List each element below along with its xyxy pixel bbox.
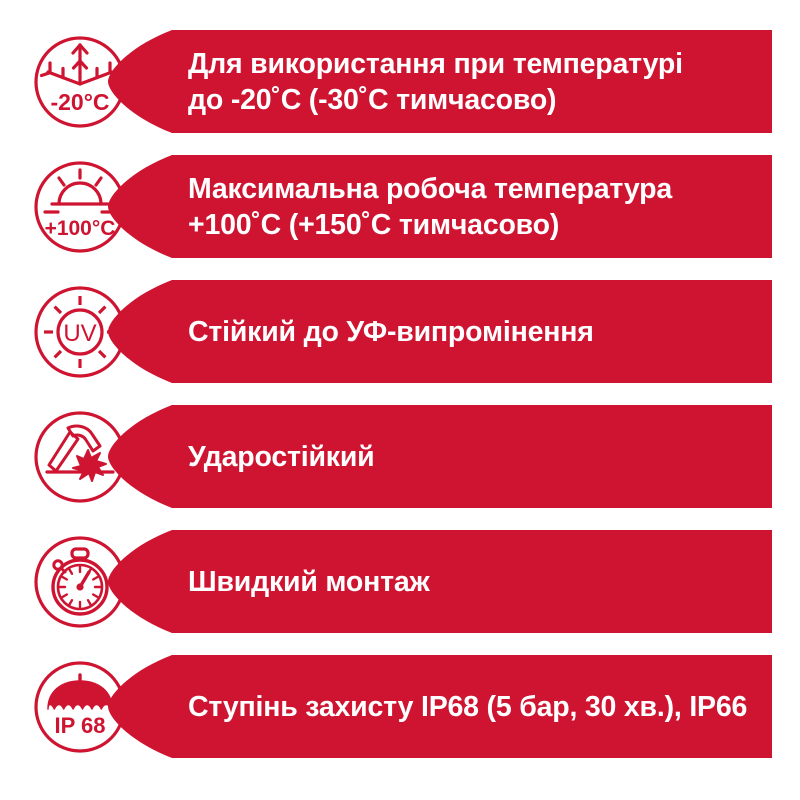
- sun-dome-icon: +100°C: [32, 159, 128, 255]
- snowflake-icon-label: -20°C: [50, 89, 109, 115]
- feature-banner: Для використання при температурі до -20˚…: [108, 30, 772, 133]
- feature-banner: Швидкий монтаж: [108, 530, 772, 633]
- feature-row: Стійкий до УФ-випромінення UV: [0, 280, 800, 383]
- feature-banner: Стійкий до УФ-випромінення: [108, 280, 772, 383]
- feature-text: Ударостійкий: [188, 405, 748, 508]
- sun-dome-icon-label: +100°C: [45, 217, 116, 240]
- snowflake-icon: -20°C: [32, 34, 128, 130]
- feature-banner: Ступінь захисту IP68 (5 бар, 30 хв.), IP…: [108, 655, 772, 758]
- feature-text: Для використання при температурі до -20˚…: [188, 30, 748, 133]
- feature-row: Ступінь захисту IP68 (5 бар, 30 хв.), IP…: [0, 655, 800, 758]
- uv-sun-icon-label: UV: [63, 320, 96, 347]
- feature-banner: Ударостійкий: [108, 405, 772, 508]
- uv-sun-icon: UV: [32, 284, 128, 380]
- feature-row: Максимальна робоча температура +100˚C (+…: [0, 155, 800, 258]
- hammer-impact-icon: [32, 409, 128, 505]
- umbrella-icon-label: IP 68: [55, 713, 106, 738]
- feature-row: Для використання при температурі до -20˚…: [0, 30, 800, 133]
- feature-banner: Максимальна робоча температура +100˚C (+…: [108, 155, 772, 258]
- feature-text: Швидкий монтаж: [188, 530, 748, 633]
- feature-row: Швидкий монтаж: [0, 530, 800, 633]
- features-infographic: Для використання при температурі до -20˚…: [0, 0, 800, 800]
- feature-text: Максимальна робоча температура +100˚C (+…: [188, 155, 748, 258]
- feature-row: Ударостійкий: [0, 405, 800, 508]
- feature-text: Стійкий до УФ-випромінення: [188, 280, 748, 383]
- feature-text: Ступінь захисту IP68 (5 бар, 30 хв.), IP…: [188, 655, 748, 758]
- umbrella-icon: IP 68: [32, 659, 128, 755]
- stopwatch-icon: [32, 534, 128, 630]
